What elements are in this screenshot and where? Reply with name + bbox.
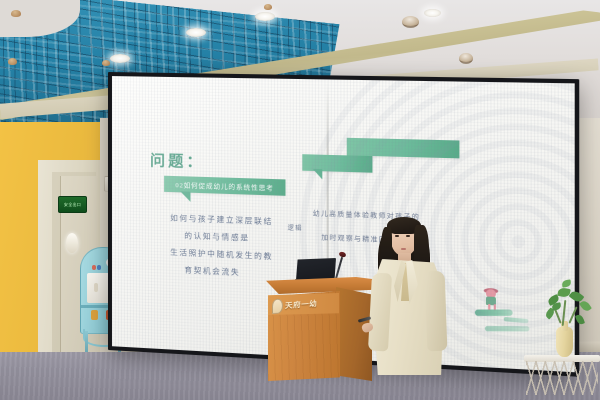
sprinkler-icon: [8, 58, 17, 65]
sprinkler-icon: [102, 60, 110, 66]
slide-caption: 逻辑: [288, 223, 303, 233]
slide-banner-main: 02如何促成幼儿的系统性思考: [164, 176, 285, 196]
speaker-podium: 天府一幼: [266, 277, 372, 383]
presenter-eye: [406, 235, 410, 237]
shelf-item-icon: [97, 265, 101, 270]
ceiling-speaker-icon: [459, 53, 473, 64]
side-table: [524, 355, 600, 400]
shelf-item-icon: [92, 265, 96, 270]
downlight-icon: [255, 12, 275, 21]
slide-banner-mid: [302, 154, 372, 173]
sprinkler-icon: [11, 10, 21, 17]
downlight-icon: [424, 9, 441, 17]
downlight-icon: [186, 28, 206, 37]
vase: [556, 327, 573, 357]
exit-sign-label: 安全出口: [64, 203, 81, 207]
shelf-toy-icon: [91, 310, 98, 320]
slide-banner-mid-label: [302, 154, 372, 173]
grass-stroke-icon: [504, 317, 529, 323]
presenter-arm: [425, 271, 448, 352]
shelf-item-icon: [94, 283, 98, 292]
slide-body-line: 育契机会流失: [184, 264, 240, 278]
shelf-leg: [85, 331, 88, 352]
grass-stroke-icon: [475, 309, 513, 315]
door-porthole-window: [66, 233, 78, 253]
leaf-logo-icon: [272, 298, 283, 314]
podium-logo-text: 天府一幼: [285, 298, 317, 311]
side-table-legs: [526, 361, 598, 395]
child-illustration: [477, 289, 506, 318]
slide-body-line: 如何与孩子建立深层联结: [170, 212, 273, 227]
downlight-icon: [110, 54, 130, 63]
presenter-eye: [395, 235, 399, 237]
slide-body-line: 的认知与情感是: [184, 230, 249, 244]
presenter-arm: [368, 273, 392, 352]
slide-body-line: 生活照护中随机发生的教: [170, 247, 273, 262]
ceiling-speaker-icon: [402, 16, 419, 28]
presenter: [360, 215, 456, 375]
presentation-room-photo: 安全出口 问题：: [0, 0, 600, 400]
sprinkler-icon: [264, 4, 272, 10]
grass-stroke-icon: [485, 326, 530, 331]
exit-sign: 安全出口: [58, 196, 87, 213]
presenter-mouth: [401, 248, 406, 250]
slide-title: 问题：: [150, 149, 205, 172]
